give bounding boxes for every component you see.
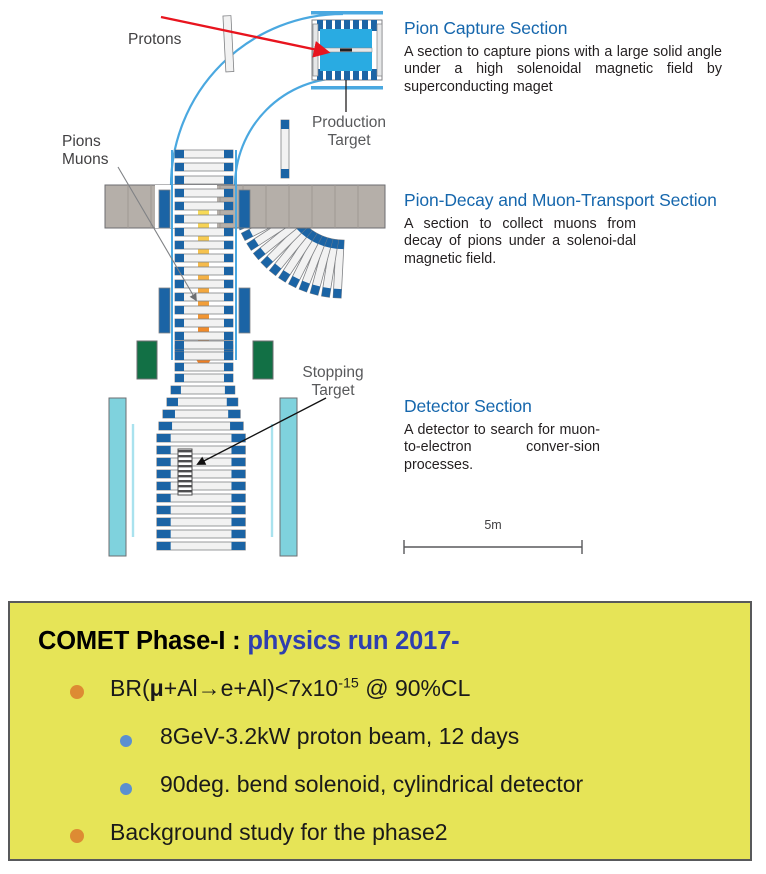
label-stopping-target: Stopping Target	[288, 364, 378, 400]
section-pion-decay-muon-transport: Pion-Decay and Muon-Transport Section A …	[404, 190, 722, 268]
detector-panel	[109, 398, 126, 556]
callout-bullet-2-text: 8GeV-3.2kW proton beam, 12 days	[160, 723, 519, 749]
side-magnet	[239, 288, 250, 333]
bullet-dot-icon	[70, 685, 84, 699]
callout-bullet-3-text: 90deg. bend solenoid, cylindrical detect…	[160, 771, 583, 797]
label-pions-muons: Pions Muons	[62, 133, 109, 169]
section-title-pion-capture: Pion Capture Section	[404, 18, 722, 39]
pion-capture-assembly	[311, 11, 383, 112]
production-target-bar	[340, 49, 352, 52]
section-body-pion-decay-muon-transport: A section to collect muons from decay of…	[404, 216, 636, 268]
section-body-pion-capture: A section to capture pions with a large …	[404, 44, 722, 96]
section-pion-capture: Pion Capture Section A section to captur…	[404, 18, 722, 96]
callout-title-black: COMET Phase-I :	[38, 627, 247, 655]
callout-bullet-1-text: BR(μ+Al→e+Al)<7x10-15 @ 90%CL	[110, 675, 470, 701]
stopping-target	[178, 449, 192, 495]
side-magnet	[239, 190, 250, 228]
callout-bullet-4-text: Background study for the phase2	[110, 819, 448, 845]
callout-title: COMET Phase-I : physics run 2017-	[38, 627, 459, 656]
label-protons: Protons	[128, 31, 181, 49]
callout-title-blue: physics run 2017-	[247, 627, 459, 655]
section-title-detector: Detector Section	[404, 396, 722, 417]
callout-bullet-1: BR(μ+Al→e+Al)<7x10-15 @ 90%CL	[70, 675, 470, 701]
bullet-dot-icon	[70, 829, 84, 843]
proton-beam-arrow	[161, 17, 327, 52]
label-production-target: Production Target	[306, 114, 392, 150]
detector-panel	[280, 398, 297, 556]
callout-bullet-4: Background study for the phase2	[70, 819, 448, 845]
scale-bar-label: 5m	[402, 518, 584, 532]
comet-phase1-callout-box: COMET Phase-I : physics run 2017- BR(μ+A…	[8, 601, 752, 861]
side-magnet	[159, 190, 170, 228]
detector-coil-bars	[157, 341, 245, 550]
side-magnet	[159, 288, 170, 333]
callout-bullet-2: 8GeV-3.2kW proton beam, 12 days	[120, 723, 519, 749]
section-title-pion-decay-muon-transport: Pion-Decay and Muon-Transport Section	[404, 190, 722, 211]
section-body-detector: A detector to search for muon-to-electro…	[404, 422, 600, 474]
stopping-target-leader	[198, 398, 326, 464]
section-detector: Detector Section A detector to search fo…	[404, 396, 722, 474]
scale-bar: 5m	[402, 518, 584, 558]
comet-phase1-figure: Protons Pions Muons Production Target St…	[0, 0, 766, 874]
bullet-dot-icon	[120, 735, 132, 747]
bullet-dot-icon	[120, 783, 132, 795]
callout-bullet-3: 90deg. bend solenoid, cylindrical detect…	[120, 771, 583, 797]
